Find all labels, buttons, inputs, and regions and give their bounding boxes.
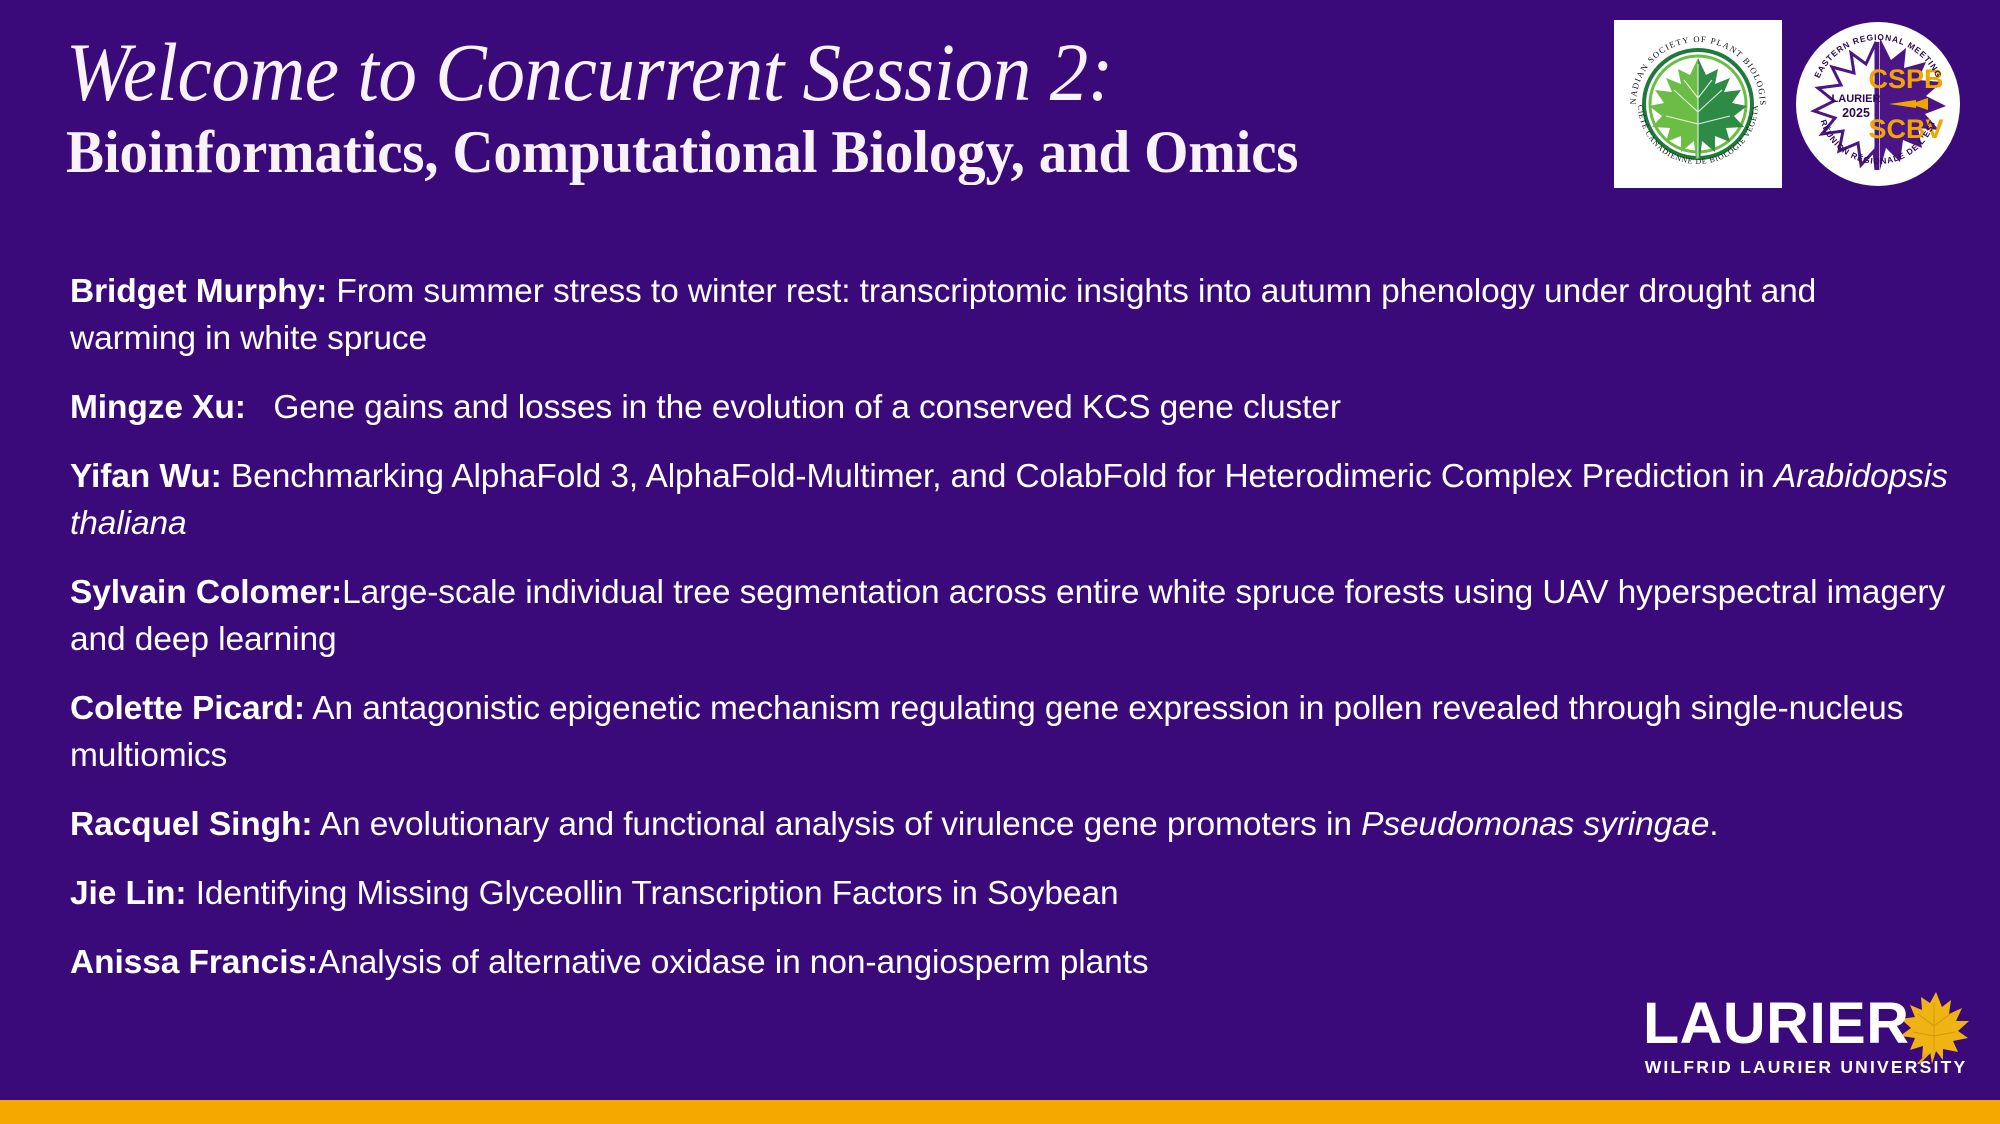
talk-list-item: Mingze Xu: Gene gains and losses in the … <box>70 384 1950 431</box>
talk-speaker-name: Sylvain Colomer: <box>70 574 342 611</box>
svg-text:2025: 2025 <box>1842 106 1870 120</box>
talk-speaker-name: Mingze Xu: <box>70 389 246 426</box>
talk-speaker-name: Racquel Singh: <box>70 806 312 843</box>
talk-list-item: Bridget Murphy: From summer stress to wi… <box>70 268 1950 362</box>
talk-list-item: Anissa Francis:Analysis of alternative o… <box>70 939 1950 986</box>
talk-list: Bridget Murphy: From summer stress to wi… <box>70 268 1950 986</box>
laurier-tagline: WILFRID LAURIER UNIVERSITY <box>1645 1056 1968 1078</box>
wilfrid-laurier-university-logo: LAURIER WILFRID LAURIER UNIVERSITY <box>1643 988 1970 1078</box>
talk-list-item: Sylvain Colomer:Large-scale individual t… <box>70 569 1950 663</box>
talk-title: Gene gains and losses in the evolution o… <box>273 389 1341 426</box>
talk-list-item: Jie Lin: Identifying Missing Glyceollin … <box>70 870 1950 917</box>
talk-speaker-name: Colette Picard: <box>70 690 305 727</box>
talk-separator <box>186 875 195 912</box>
talk-list-item: Yifan Wu: Benchmarking AlphaFold 3, Alph… <box>70 453 1950 547</box>
talk-separator <box>312 806 319 843</box>
page-title-line-2: Bioinformatics, Computational Biology, a… <box>66 116 1491 188</box>
talk-separator <box>222 458 231 495</box>
talk-list-item: Racquel Singh: An evolutionary and funct… <box>70 801 1950 848</box>
talk-title: Large-scale individual tree segmentation… <box>70 574 1945 658</box>
laurier-wordmark-row: LAURIER <box>1643 988 1970 1052</box>
talk-speaker-name: Jie Lin: <box>70 875 186 912</box>
slide-title-block: Welcome to Concurrent Session 2: Bioinfo… <box>66 26 1566 188</box>
eastern-regional-meeting-badge: CSPB SCBV LAURIER 2025 EASTERN REGIONAL … <box>1794 20 1962 188</box>
talk-list-item: Colette Picard: An antagonistic epigenet… <box>70 685 1950 779</box>
talk-title: Identifying Missing Glyceollin Transcrip… <box>196 875 1119 912</box>
laurier-wordmark: LAURIER <box>1643 996 1910 1052</box>
svg-text:LAURIER: LAURIER <box>1832 93 1881 105</box>
presentation-slide: Welcome to Concurrent Session 2: Bioinfo… <box>0 0 2000 1124</box>
page-title-line-1: Welcome to Concurrent Session 2: <box>66 26 1461 118</box>
talk-speaker-name: Yifan Wu: <box>70 458 222 495</box>
talk-title: An evolutionary and functional analysis … <box>320 806 1361 843</box>
bottom-accent-bar <box>0 1100 2000 1124</box>
logo-row: CANADIAN SOCIETY OF PLANT BIOLOGISTS SOC… <box>1614 20 1962 188</box>
talk-speaker-name: Anissa Francis: <box>70 944 318 981</box>
talk-speaker-name: Bridget Murphy: <box>70 273 327 310</box>
talk-title: . <box>1709 806 1718 843</box>
talk-title: Analysis of alternative oxidase in non-a… <box>318 944 1149 981</box>
cspb-scbv-logo: CANADIAN SOCIETY OF PLANT BIOLOGISTS SOC… <box>1614 20 1782 188</box>
talk-title: An antagonistic epigenetic mechanism reg… <box>70 690 1903 774</box>
talk-separator <box>246 389 274 426</box>
talk-title-italic: Pseudomonas syringae <box>1361 806 1709 843</box>
talk-title: Benchmarking AlphaFold 3, AlphaFold-Mult… <box>231 458 1774 495</box>
